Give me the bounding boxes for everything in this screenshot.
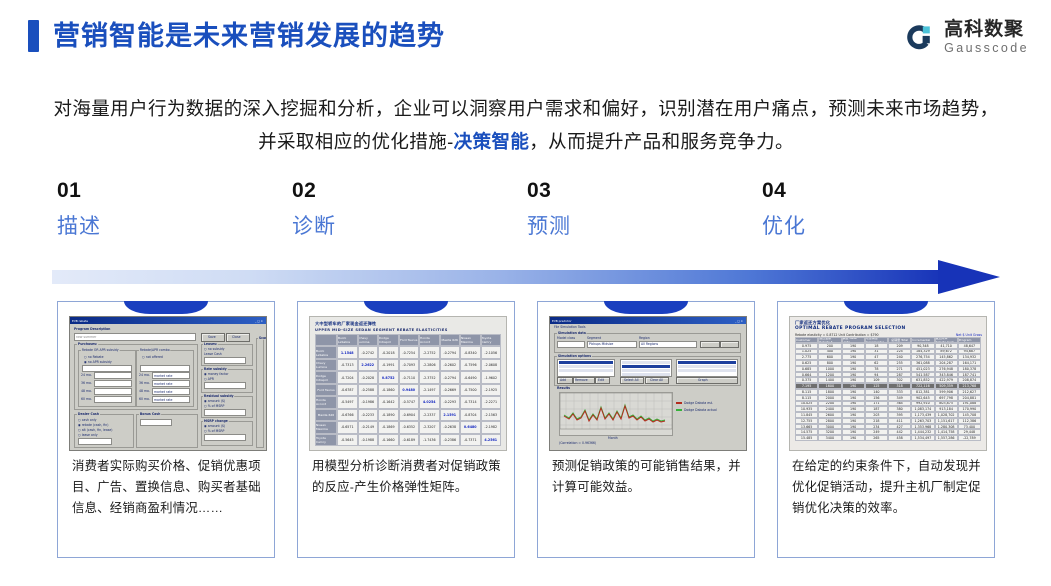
matrix-cell: -2.3752	[419, 371, 440, 383]
matrix-cell: -0.8704	[460, 409, 481, 421]
matrix-cell: -1.7436	[419, 434, 440, 446]
matrix-cell: -0.1660	[378, 434, 399, 446]
progress-arrow-body	[52, 270, 944, 284]
step-02-number: 02	[292, 178, 492, 204]
card-04-tab	[844, 301, 928, 314]
matrix-cell: -0.7204	[337, 371, 358, 383]
matrix-cell: -0.2028	[358, 371, 379, 383]
card-02[interactable]: 大中型轿车的厂家现金返还弹性 UPPER MID-SIZE SEDAN SEGM…	[297, 301, 515, 558]
matrix-cell: -0.2293	[440, 396, 461, 408]
matrix-cell: -0.7314	[460, 396, 481, 408]
matrix-cell: -2.0608	[481, 359, 502, 371]
matrix-cell: -0.6766	[337, 409, 358, 421]
progress-arrow-head-icon	[938, 260, 1000, 294]
title-text: 营销智能是未来营销发展的趋势	[53, 20, 445, 52]
slide-root: 营销智能是未来营销发展的趋势 高科数聚 Gausscode 对海量用户行为数据的…	[0, 0, 1051, 586]
matrix-cell: 1.1548	[337, 346, 358, 358]
matrix-col-header: Nissan Maxima	[460, 334, 481, 346]
matrix-cell: -2.2752	[419, 346, 440, 358]
step-04-label: 优化	[762, 212, 962, 242]
matrix-col-header: Mazda 626	[440, 334, 461, 346]
legend-label-est: Dodge Dakota est.	[684, 401, 713, 405]
card-01-caption: 消费者实际购买价格、促销优惠项目、广告、置换信息、购买者基础信息、经销商盈利情况…	[72, 456, 264, 519]
matrix-cell: -0.1642	[378, 396, 399, 408]
matrix-cell: -0.7500	[460, 384, 481, 396]
matrix-cell: 2.2622	[358, 359, 379, 371]
matrix-cell: -0.6352	[399, 421, 420, 433]
matrix-row-header: Mazda 626	[315, 409, 337, 421]
matrix-cell: -2.3207	[419, 421, 440, 433]
matrix-cell: -2.1497	[419, 384, 440, 396]
matrix-col-header: Ford Taurus	[399, 334, 420, 346]
matrix-cell: -2.1563	[481, 409, 502, 421]
matrix-cell: -0.8340	[460, 346, 481, 358]
optimal-rebate-grid: 实际价格 Customer Price返还金额 Rebate $销量 Base …	[795, 337, 981, 441]
card-01[interactable]: EVB rebate _ □ ✕ Program Description new…	[57, 301, 275, 558]
matrix-cell: -0.2149	[358, 421, 379, 433]
paragraph-part-2: ，从而提升产品和服务竞争力。	[529, 131, 794, 152]
page-title: 营销智能是未来营销发展的趋势	[28, 20, 445, 52]
logo-english-name: Gausscode	[944, 42, 1029, 55]
rebate-subline: Rebate elasticity = 0.8712 Unit Contribu…	[795, 333, 879, 337]
matrix-cell: -0.2018	[378, 346, 399, 358]
matrix-col-header: Toyota Camry	[481, 334, 502, 346]
step-01-label: 描述	[57, 212, 257, 242]
card-01-screenshot: EVB rebate _ □ ✕ Program Description new…	[69, 316, 267, 451]
title-accent-bar	[28, 20, 39, 52]
matrix-cell: -0.7093	[399, 359, 420, 371]
matrix-cell: 0.6480	[460, 421, 481, 433]
matrix-cell: 4.0254	[419, 396, 440, 408]
matrix-cell: 4.2561	[481, 434, 502, 446]
matrix-cell: -0.6904	[399, 409, 420, 421]
matrix-row-header: Toyota Camry	[315, 434, 337, 446]
matrix-cell: -0.6571	[337, 421, 358, 433]
matrix-cell: -0.7254	[399, 346, 420, 358]
matrix-cell: 2.1591	[440, 409, 461, 421]
card-04-screenshot: 厂家返还方案优化 OPTIMAL REBATE PROGRAM SELECTIO…	[789, 316, 987, 451]
matrix-cell: 0.8752	[378, 371, 399, 383]
step-02-label: 诊断	[292, 212, 492, 242]
step-labels: 01 描述 02 诊断 03 预测 04 优化	[57, 178, 997, 248]
card-02-tab	[364, 301, 448, 314]
matrix-col-header: Chevy Lumina	[358, 334, 379, 346]
rebate-cell: -22,789	[958, 435, 981, 441]
matrix-row-header: Honda Accord	[315, 396, 337, 408]
gausscode-logo-icon	[904, 22, 935, 53]
step-03-label: 预测	[527, 212, 727, 242]
matrix-row-header: Ford Taurus	[315, 384, 337, 396]
matrix-cell: -0.2638	[440, 421, 461, 433]
predictor-title: EVB predictor	[552, 319, 572, 323]
rebate-corner-note: Net $ Unit Gross	[956, 333, 982, 337]
matrix-col-header: Dodge Intrepid	[378, 334, 399, 346]
step-02: 02 诊断	[292, 178, 492, 242]
card-04[interactable]: 厂家返还方案优化 OPTIMAL REBATE PROGRAM SELECTIO…	[777, 301, 995, 558]
matrix-cell: -0.7110	[399, 371, 420, 383]
brand-logo: 高科数聚 Gausscode	[904, 20, 1029, 55]
matrix-cell: -2.2806	[419, 359, 440, 371]
step-04: 04 优化	[762, 178, 962, 242]
matrix-row-header: Buick LeSabre	[315, 346, 337, 358]
rebate-cell: 1,534,497	[911, 435, 934, 441]
matrix-cell: -0.7313	[337, 359, 358, 371]
matrix-col-header: Honda Accord	[419, 334, 440, 346]
matrix-col-header: Buick LeSabre	[337, 334, 358, 346]
matrix-cell: -0.2386	[440, 434, 461, 446]
logo-chinese-name: 高科数聚	[944, 20, 1029, 39]
rebate-cell: 15.485	[795, 435, 818, 441]
card-row: EVB rebate _ □ ✕ Program Description new…	[57, 301, 997, 559]
matrix-title-en: UPPER MID-SIZE SEDAN SEGMENT REBATE ELAS…	[315, 328, 448, 332]
matrix-cell: -0.2233	[358, 409, 379, 421]
rebate-cell: 1,557,286	[935, 435, 958, 441]
matrix-cell: -0.2794	[440, 371, 461, 383]
matrix-cell: -0.2588	[358, 384, 379, 396]
matrix-cell: -0.2794	[440, 346, 461, 358]
rebate-cell: 458	[888, 435, 911, 441]
card-01-tab	[124, 301, 208, 314]
matrix-cell: -2.1925	[481, 384, 502, 396]
card-02-caption: 用模型分析诊断消费者对促销政策的反应-产生价格弹性矩阵。	[312, 456, 504, 498]
matrix-cell: -0.2742	[358, 346, 379, 358]
rebate-cell: 3400	[818, 435, 841, 441]
matrix-cell: -0.1991	[378, 359, 399, 371]
dialog-title: EVB rebate	[72, 319, 88, 323]
matrix-cell: -0.6490	[460, 371, 481, 383]
matrix-row-header: Nissan Maxima	[315, 421, 337, 433]
matrix-cell: -0.1890	[378, 409, 399, 421]
matrix-cell: -1.9602	[481, 371, 502, 383]
paragraph-highlight: 决策智能	[454, 131, 530, 152]
matrix-cell: -0.6189	[399, 434, 420, 446]
matrix-cell: -2.1982	[481, 421, 502, 433]
matrix-cell: -0.7596	[460, 359, 481, 371]
matrix-cell: 0.9480	[399, 384, 420, 396]
matrix-cell: -0.2669	[440, 384, 461, 396]
intro-paragraph: 对海量用户行为数据的深入挖掘和分析，企业可以洞察用户需求和偏好，识别潜在用户痛点…	[50, 92, 1002, 158]
matrix-row-header: Chevy Lumina	[315, 359, 337, 371]
matrix-cell: -2.1056	[481, 346, 502, 358]
rebate-cell: 190	[842, 435, 865, 441]
card-03[interactable]: EVB predictor _ □ ✕ File Simulation Tool…	[537, 301, 755, 558]
matrix-cell: -0.1869	[378, 421, 399, 433]
card-02-screenshot: 大中型轿车的厂家现金返还弹性 UPPER MID-SIZE SEDAN SEGM…	[309, 316, 507, 451]
matrix-row-header: Dodge Intrepid	[315, 371, 337, 383]
matrix-cell: -0.1986	[358, 396, 379, 408]
progress-arrow	[52, 264, 1002, 290]
matrix-cell: -0.1988	[358, 434, 379, 446]
card-03-screenshot: EVB predictor _ □ ✕ File Simulation Tool…	[549, 316, 747, 451]
matrix-cell: -0.5497	[337, 396, 358, 408]
matrix-cell: -0.1860	[378, 384, 399, 396]
matrix-corner	[315, 334, 337, 346]
step-01-number: 01	[57, 178, 257, 204]
matrix-cell: -0.5747	[399, 396, 420, 408]
step-04-number: 04	[762, 178, 962, 204]
simulation-line-chart	[559, 392, 673, 436]
elasticity-matrix-grid: Buick LeSabreChevy LuminaDodge IntrepidF…	[315, 334, 501, 446]
matrix-cell: -0.2602	[440, 359, 461, 371]
step-03: 03 预测	[527, 178, 727, 242]
correlation-footnote: (Correlation = 0.96366)	[559, 441, 596, 445]
matrix-title-cn: 大中型轿车的厂家现金返还弹性	[315, 321, 376, 327]
legend-label-actual: Dodge Dakota actual	[684, 408, 717, 412]
card-03-caption: 预测促销政策的可能销售结果，并计算可能效益。	[552, 456, 744, 498]
step-03-number: 03	[527, 178, 727, 204]
matrix-cell: -2.2271	[481, 396, 502, 408]
card-03-tab	[604, 301, 688, 314]
rebate-title-en: OPTIMAL REBATE PROGRAM SELECTION	[795, 326, 906, 331]
matrix-cell: -0.5645	[337, 434, 358, 446]
matrix-cell: -0.7371	[460, 434, 481, 446]
step-01: 01 描述	[57, 178, 257, 242]
matrix-cell: -2.2337	[419, 409, 440, 421]
card-04-caption: 在给定的约束条件下，自动发现并优化促销活动，提升主机厂制定促销优化决策的效率。	[792, 456, 984, 519]
rebate-cell: 265	[865, 435, 888, 441]
matrix-cell: -0.6787	[337, 384, 358, 396]
